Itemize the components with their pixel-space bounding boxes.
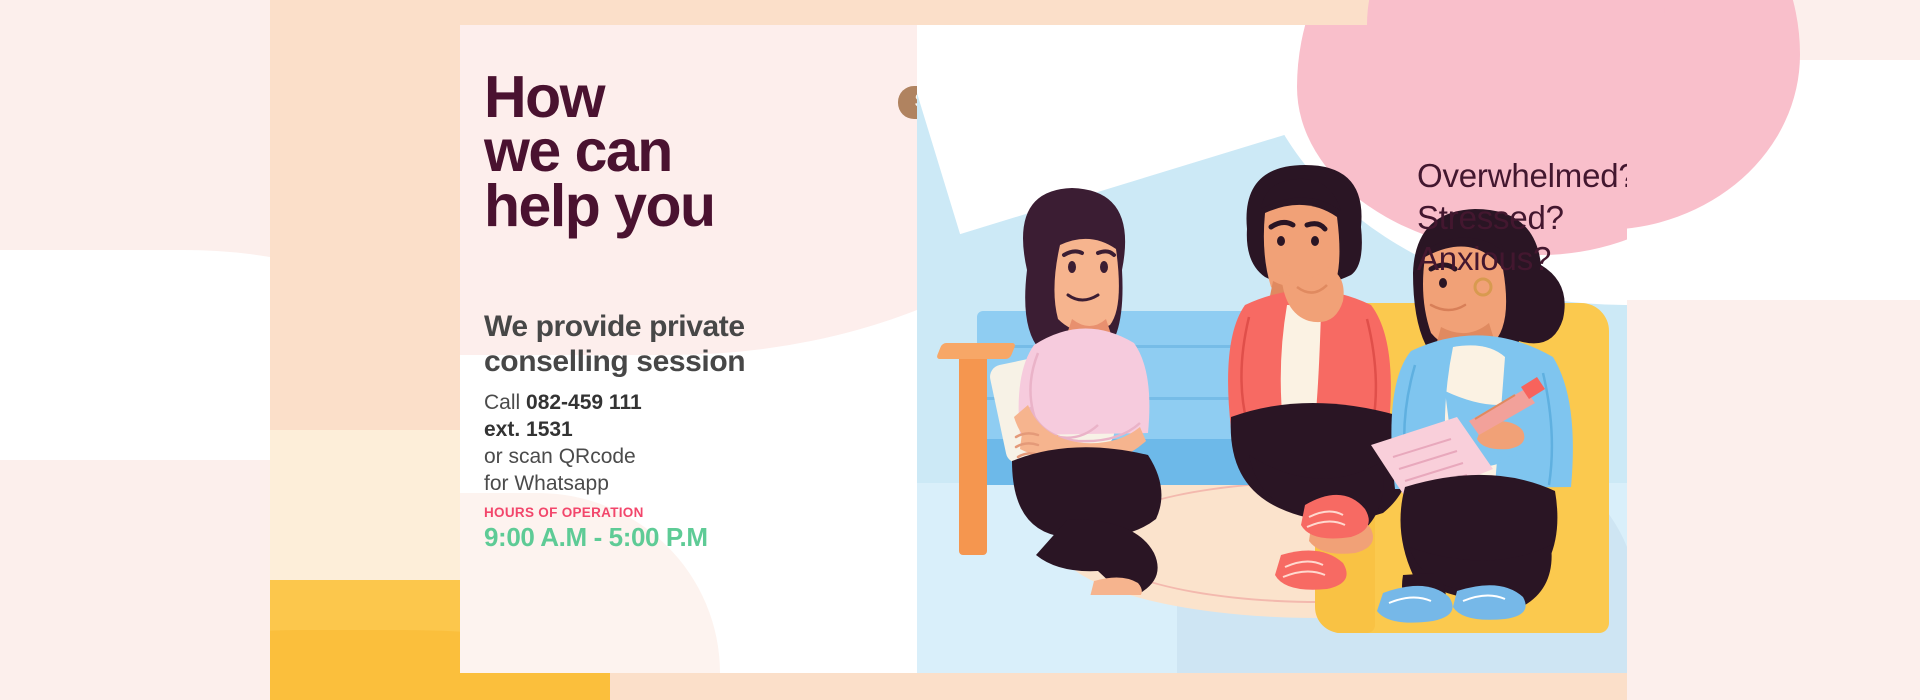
question-line-3: Anxious? bbox=[1417, 238, 1627, 280]
questions-text: Overwhelmed? Stressed? Anxious? bbox=[1417, 155, 1627, 280]
contact-call-prefix: Call bbox=[484, 391, 526, 414]
card-tint-bottom bbox=[460, 493, 720, 673]
headline-line-1: How bbox=[484, 70, 954, 124]
hours-value: 9:00 A.M - 5:00 P.M bbox=[484, 522, 708, 553]
poster-inner-card: How we can help you We provide private c… bbox=[460, 25, 1627, 673]
poster-canvas: How we can help you We provide private c… bbox=[0, 0, 1920, 700]
woman-on-couch bbox=[972, 175, 1202, 595]
subheadline: We provide private conselling session bbox=[484, 310, 904, 379]
contact-call-line: Call 082-459 111 bbox=[484, 390, 884, 417]
subheadline-line-2: conselling session bbox=[484, 345, 904, 380]
headline: How we can help you bbox=[484, 70, 954, 233]
hours-label: HOURS OF OPERATION bbox=[484, 505, 644, 520]
subheadline-line-1: We provide private bbox=[484, 310, 904, 345]
contact-phone[interactable]: 082-459 111 bbox=[526, 391, 642, 414]
poster-card: How we can help you We provide private c… bbox=[270, 0, 1627, 700]
counselling-illustration: Overwhelmed? Stressed? Anxious? bbox=[917, 25, 1627, 673]
contact-line-3: or scan QRcode bbox=[484, 444, 884, 471]
question-line-2: Stressed? bbox=[1417, 197, 1627, 239]
contact-block: Call 082-459 111 ext. 1531 or scan QRcod… bbox=[484, 390, 884, 498]
contact-line-4: for Whatsapp bbox=[484, 471, 884, 498]
contact-ext: ext. 1531 bbox=[484, 417, 884, 444]
question-line-1: Overwhelmed? bbox=[1417, 155, 1627, 197]
headline-line-3: help you bbox=[484, 179, 954, 233]
headline-line-2: we can bbox=[484, 124, 954, 178]
